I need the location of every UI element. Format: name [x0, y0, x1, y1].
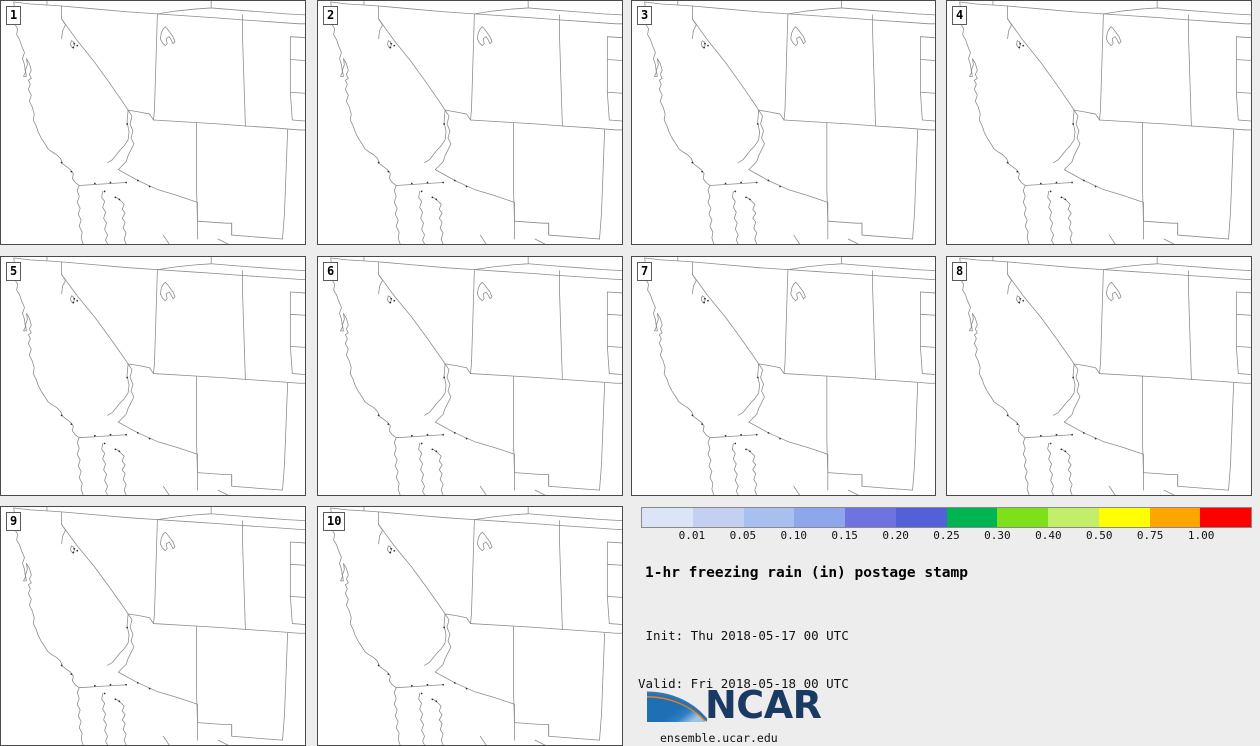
colorbar-band-7 — [997, 508, 1048, 527]
ensemble-url-label: ensemble.ucar.edu — [660, 731, 778, 745]
colorbar-tick-6: 0.30 — [984, 529, 1011, 542]
member-panel-10[interactable]: 10 — [317, 506, 623, 746]
member-label-2: 2 — [323, 6, 338, 25]
ncar-logo[interactable]: NCAR ensemble.ucar.edu — [645, 678, 905, 742]
map-outline — [632, 1, 935, 244]
member-panel-1[interactable]: 1 — [0, 0, 306, 245]
colorbar-band-9 — [1099, 508, 1150, 527]
member-panel-6[interactable]: 6 — [317, 256, 623, 496]
colorbar-band-6 — [947, 508, 998, 527]
member-panel-9[interactable]: 9 — [0, 506, 306, 746]
map-outline — [1, 257, 305, 495]
member-label-8: 8 — [952, 262, 967, 281]
map-outline — [1, 507, 305, 745]
member-label-4: 4 — [952, 6, 967, 25]
map-outline — [632, 257, 935, 495]
map-outline — [947, 257, 1251, 495]
member-label-1: 1 — [6, 6, 21, 25]
member-label-5: 5 — [6, 262, 21, 281]
colorbar-band-5 — [896, 508, 947, 527]
colorbar-band-0 — [642, 508, 693, 527]
map-outline — [947, 1, 1251, 244]
map-outline — [318, 1, 622, 244]
colorbar-tick-2: 0.10 — [781, 529, 808, 542]
member-panel-2[interactable]: 2 — [317, 0, 623, 245]
colorbar-tick-labels: 0.010.050.100.150.200.250.300.400.500.75… — [641, 529, 1252, 545]
member-label-3: 3 — [637, 6, 652, 25]
init-time-line: Init: Thu 2018-05-17 00 UTC — [638, 628, 849, 644]
ncar-logo-mark — [645, 678, 709, 726]
colorbar — [641, 507, 1252, 528]
map-outline — [318, 257, 622, 495]
member-label-9: 9 — [6, 512, 21, 531]
member-panel-3[interactable]: 3 — [631, 0, 936, 245]
member-panel-7[interactable]: 7 — [631, 256, 936, 496]
colorbar-tick-9: 0.75 — [1137, 529, 1164, 542]
legend-panel: 0.010.050.100.150.200.250.300.400.500.75… — [631, 500, 1252, 746]
colorbar-band-4 — [845, 508, 896, 527]
map-outline — [318, 507, 622, 745]
colorbar-tick-4: 0.20 — [882, 529, 909, 542]
colorbar-tick-7: 0.40 — [1035, 529, 1062, 542]
member-label-6: 6 — [323, 262, 338, 281]
figure-title: 1-hr freezing rain (in) postage stamp — [645, 565, 968, 581]
colorbar-tick-0: 0.01 — [679, 529, 706, 542]
colorbar-tick-3: 0.15 — [831, 529, 858, 542]
member-panel-8[interactable]: 8 — [946, 256, 1252, 496]
colorbar-band-11 — [1200, 508, 1251, 527]
member-panel-4[interactable]: 4 — [946, 0, 1252, 245]
colorbar-tick-1: 0.05 — [730, 529, 757, 542]
colorbar-band-10 — [1150, 508, 1201, 527]
map-outline — [1, 1, 305, 244]
colorbar-band-2 — [744, 508, 795, 527]
colorbar-band-8 — [1048, 508, 1099, 527]
ncar-wordmark: NCAR — [705, 686, 821, 724]
member-panel-5[interactable]: 5 — [0, 256, 306, 496]
colorbar-tick-8: 0.50 — [1086, 529, 1113, 542]
member-label-7: 7 — [637, 262, 652, 281]
colorbar-band-1 — [693, 508, 744, 527]
colorbar-tick-10: 1.00 — [1188, 529, 1215, 542]
figure-canvas: 12345678910 0.010.050.100.150.200.250.30… — [0, 0, 1260, 746]
colorbar-band-3 — [794, 508, 845, 527]
member-label-10: 10 — [323, 512, 345, 531]
colorbar-tick-5: 0.25 — [933, 529, 960, 542]
